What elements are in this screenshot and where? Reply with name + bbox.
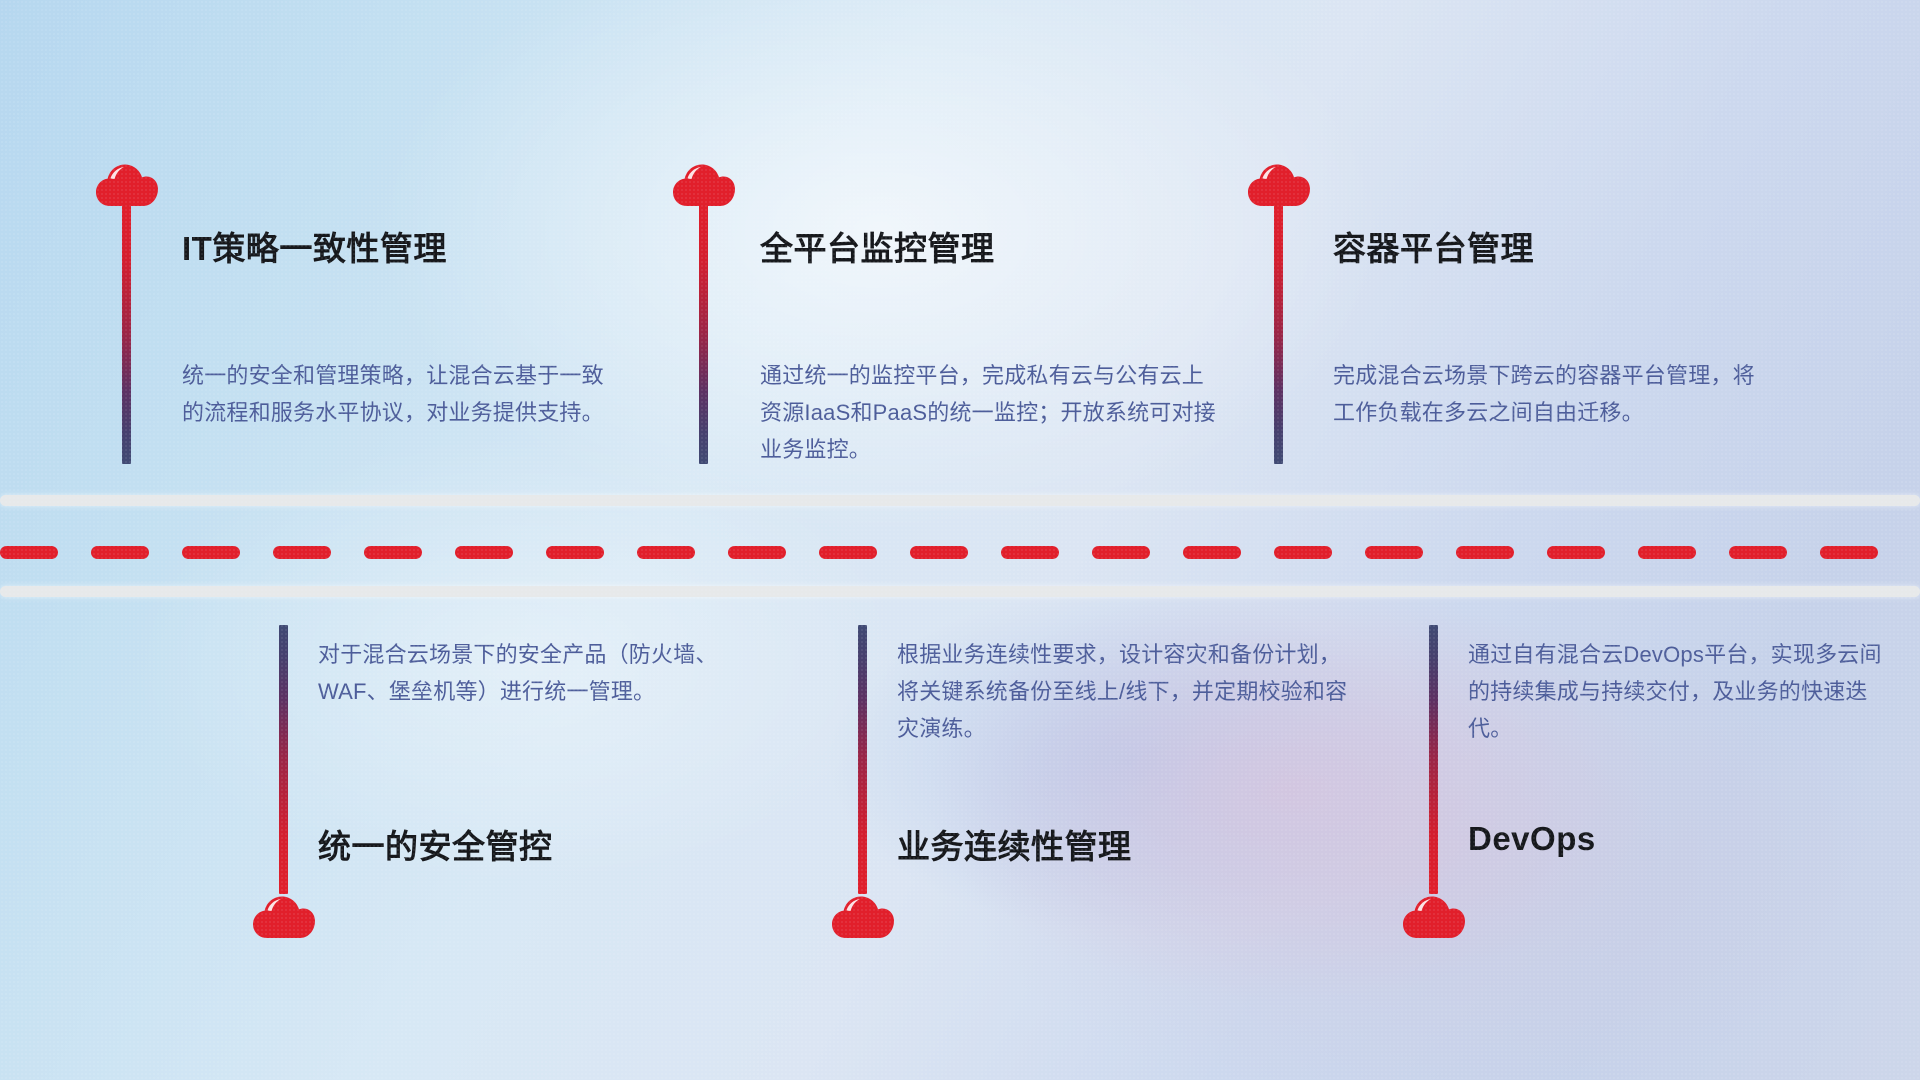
road-dash-segment: [1456, 546, 1514, 559]
infographic-canvas: IT策略一致性管理 统一的安全和管理策略，让混合云基于一致的流程和服务水平协议，…: [0, 0, 1920, 1080]
road-dash-segment: [1547, 546, 1605, 559]
road-dash-segment: [637, 546, 695, 559]
road-dash-segment: [91, 546, 149, 559]
cloud-icon: [1403, 892, 1465, 938]
cloud-icon: [832, 892, 894, 938]
bottom-body-3: 通过自有混合云DevOps平台，实现多云间的持续集成与持续交付，及业务的快速迭代…: [1468, 636, 1898, 747]
road-dash-segment: [364, 546, 422, 559]
top-stem-2: [699, 202, 708, 464]
cloud-icon: [673, 160, 735, 206]
top-stem-3: [1274, 202, 1283, 464]
road-dash-segment: [1638, 546, 1696, 559]
top-heading-1: IT策略一致性管理: [182, 222, 447, 270]
bottom-stem-3: [1429, 625, 1438, 894]
road-dash-segment: [182, 546, 240, 559]
top-stem-1: [122, 202, 131, 464]
bottom-stem-1: [279, 625, 288, 894]
top-heading-2: 全平台监控管理: [760, 222, 995, 270]
top-marker-2: [673, 160, 735, 206]
top-marker-1: [96, 160, 158, 206]
cloud-icon: [1248, 160, 1310, 206]
bottom-heading-2: 业务连续性管理: [897, 820, 1132, 868]
bottom-body-2: 根据业务连续性要求，设计容灾和备份计划，将关键系统备份至线上/线下，并定期校验和…: [897, 636, 1357, 747]
road-dash-segment: [1274, 546, 1332, 559]
bottom-stem-2: [858, 625, 867, 894]
road-edge-top: [0, 495, 1920, 506]
bottom-heading-3: DevOps: [1468, 820, 1596, 858]
road-dash-segment: [728, 546, 786, 559]
bottom-heading-1: 统一的安全管控: [318, 820, 553, 868]
road-dash-segment: [910, 546, 968, 559]
road-dash-segment: [1820, 546, 1878, 559]
bottom-body-1: 对于混合云场景下的安全产品（防火墙、WAF、堡垒机等）进行统一管理。: [318, 636, 748, 710]
top-marker-3: [1248, 160, 1310, 206]
top-body-2: 通过统一的监控平台，完成私有云与公有云上资源IaaS和PaaS的统一监控；开放系…: [760, 357, 1220, 468]
road-dash-segment: [546, 546, 604, 559]
top-heading-3: 容器平台管理: [1333, 222, 1534, 270]
road-dash-segment: [1729, 546, 1787, 559]
road-dash-segment: [819, 546, 877, 559]
top-body-3: 完成混合云场景下跨云的容器平台管理，将工作负载在多云之间自由迁移。: [1333, 357, 1763, 431]
road-dash-segment: [0, 546, 58, 559]
road-dash-segment: [1092, 546, 1150, 559]
road-dash-segment: [1183, 546, 1241, 559]
cloud-icon: [96, 160, 158, 206]
road-dashed-centerline: [0, 546, 1920, 559]
top-body-1: 统一的安全和管理策略，让混合云基于一致的流程和服务水平协议，对业务提供支持。: [182, 357, 612, 431]
road-dash-segment: [273, 546, 331, 559]
road-edge-bottom: [0, 586, 1920, 597]
road-dash-segment: [455, 546, 513, 559]
cloud-icon: [253, 892, 315, 938]
road-dash-segment: [1365, 546, 1423, 559]
road-dash-segment: [1001, 546, 1059, 559]
